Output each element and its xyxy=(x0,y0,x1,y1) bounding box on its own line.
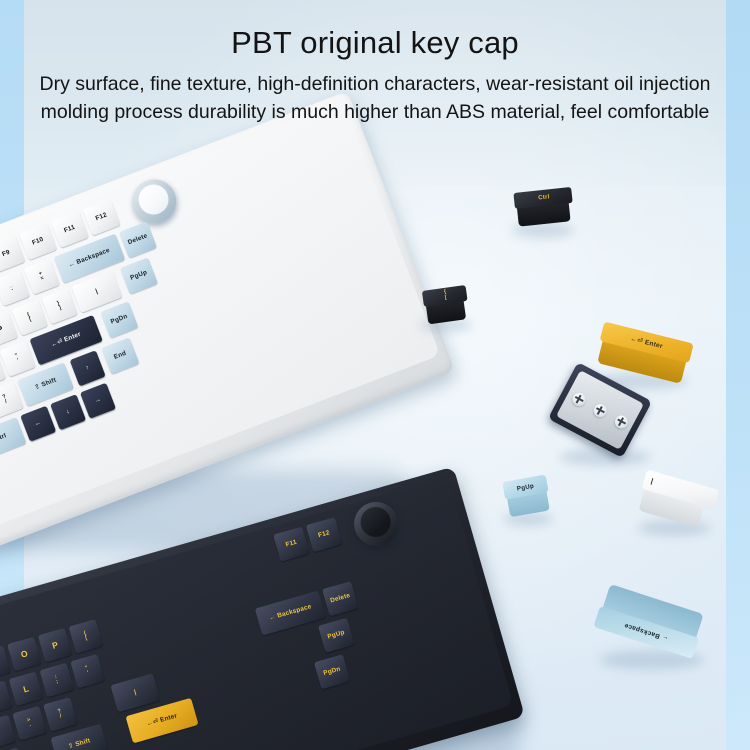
cap-flipped-shadow xyxy=(560,448,650,466)
cap-pgup-blue[interactable]: PgUp xyxy=(502,474,552,517)
keycap-stem-icon xyxy=(612,412,630,430)
keycap-stem-icon xyxy=(570,390,588,408)
cap-bracket-black[interactable]: { [ xyxy=(422,285,468,325)
page-subtitle: Dry surface, fine texture, high-definiti… xyxy=(24,71,726,126)
cap-pipe-white[interactable]: | xyxy=(636,469,713,528)
header: PBT original key cap Dry surface, fine t… xyxy=(24,0,726,126)
keycap-stem-icon xyxy=(591,401,609,419)
product-image: PBT original key cap Dry surface, fine t… xyxy=(0,0,750,750)
cap-backspace-blue[interactable]: ← Backspace xyxy=(593,583,706,659)
page-title: PBT original key cap xyxy=(24,26,726,60)
cap-ctrl-black[interactable]: Ctrl xyxy=(513,187,572,227)
